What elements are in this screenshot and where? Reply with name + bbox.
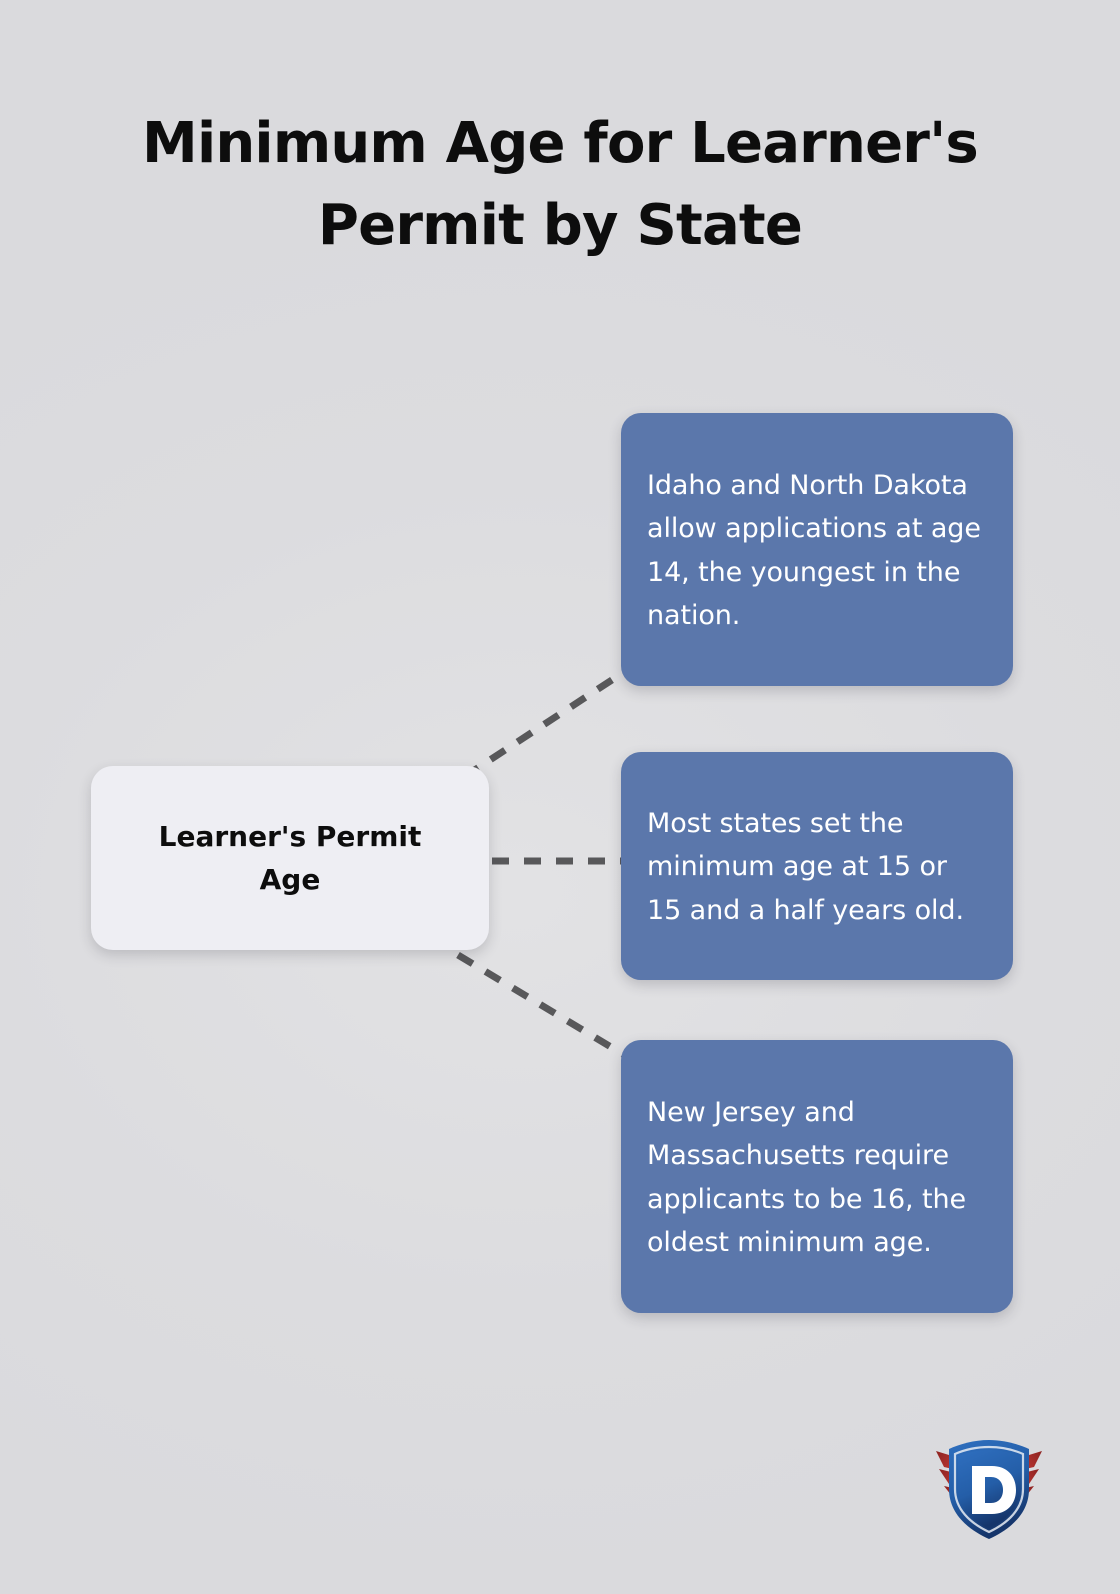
center-node-label: Learner's Permit Age (125, 815, 455, 902)
center-node[interactable]: Learner's Permit Age (91, 766, 489, 950)
infographic-canvas: Minimum Age for Learner's Permit by Stat… (0, 0, 1120, 1594)
driving-shield-d-logo-icon (928, 1433, 1050, 1545)
branch-box-1[interactable]: Idaho and North Dakota allow application… (621, 413, 1013, 686)
connector-to-branch-2 (458, 955, 626, 1056)
page-title: Minimum Age for Learner's Permit by Stat… (70, 103, 1050, 267)
branch-box-1-text: Idaho and North Dakota allow application… (647, 464, 985, 637)
branch-box-2-text: Most states set the minimum age at 15 or… (647, 802, 985, 932)
branch-box-3[interactable]: New Jersey and Massachusetts require app… (621, 1040, 1013, 1313)
branch-box-3-text: New Jersey and Massachusetts require app… (647, 1091, 985, 1264)
branch-box-2[interactable]: Most states set the minimum age at 15 or… (621, 752, 1013, 980)
connector-to-branch-0 (464, 672, 624, 777)
